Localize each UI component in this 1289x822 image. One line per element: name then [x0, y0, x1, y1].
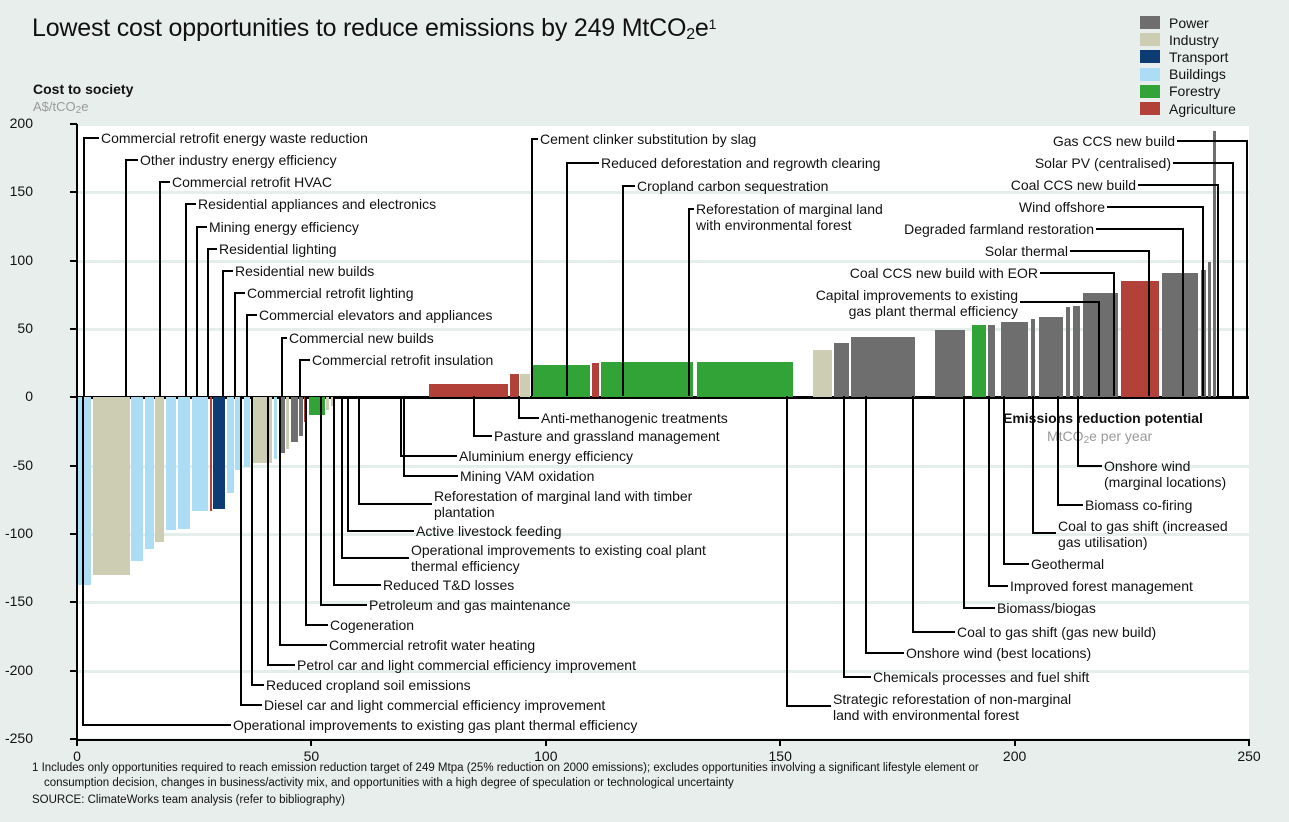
annotation-label: Mining VAM oxidation	[460, 468, 594, 484]
legend-swatch-transport	[1140, 50, 1160, 63]
leader-line	[403, 475, 458, 477]
x-axis-tick	[1014, 739, 1016, 746]
y-axis-tick	[70, 533, 77, 535]
footnote-line-2: consumption decision, changes in busines…	[44, 776, 734, 791]
y-axis-line	[76, 124, 78, 739]
y-units-pre: A$/tCO	[33, 99, 76, 114]
title-text-pre: Lowest cost opportunities to reduce emis…	[32, 14, 686, 42]
leader-line	[281, 337, 283, 396]
leader-line	[222, 270, 224, 396]
y-axis-tick	[70, 191, 77, 193]
chart-bar[interactable]	[213, 397, 225, 509]
annotation-label: Commercial elevators and appliances	[259, 307, 492, 323]
x-axis-tick	[545, 739, 547, 746]
leader-line	[347, 396, 349, 530]
leader-line	[267, 664, 295, 666]
y-axis-tick-label: 100	[10, 252, 33, 268]
annotation-label: Pasture and grassland management	[494, 428, 720, 444]
annotation-label: Wind offshore	[1019, 199, 1105, 215]
annotation-label: gas utilisation)	[1058, 534, 1148, 550]
leader-line	[518, 417, 539, 419]
y-axis-tick-label: 150	[10, 183, 33, 199]
leader-line	[159, 181, 161, 396]
chart-bar[interactable]	[291, 397, 298, 442]
leader-line	[240, 396, 242, 704]
legend-swatch-buildings	[1140, 68, 1160, 81]
annotation-label: plantation	[434, 504, 495, 520]
legend-swatch-power	[1140, 16, 1160, 29]
title-footnote-marker: 1	[709, 16, 717, 32]
x-axis-tick	[1248, 739, 1250, 746]
annotation-label: Petrol car and light commercial efficien…	[297, 657, 636, 673]
chart-bar[interactable]	[274, 397, 277, 459]
leader-line	[267, 396, 269, 664]
chart-bar[interactable]	[145, 397, 154, 549]
annotation-label: Cement clinker substitution by slag	[540, 131, 756, 147]
legend-item-buildings: Buildings	[1140, 66, 1236, 83]
annotation-label: Biomass/biogas	[997, 600, 1096, 616]
annotation-label: Commercial retrofit HVAC	[172, 174, 332, 190]
leader-line	[1246, 140, 1248, 396]
annotation-label: Commercial retrofit insulation	[312, 352, 493, 368]
leader-line	[279, 396, 281, 644]
legend-item-forestry: Forestry	[1140, 83, 1236, 100]
chart-bar[interactable]	[532, 365, 591, 398]
y-axis-tick	[70, 465, 77, 467]
legend-label: Buildings	[1169, 67, 1226, 81]
leader-line	[843, 676, 871, 678]
y-axis-tick	[70, 260, 77, 262]
chart-bar[interactable]	[286, 397, 289, 449]
chart-bar[interactable]	[309, 397, 324, 415]
x-axis-tick	[310, 739, 312, 746]
chart-bar[interactable]	[1031, 319, 1035, 397]
leader-line	[1173, 162, 1232, 164]
annotation-label: with environmental forest	[696, 217, 852, 233]
annotation-label: Commercial retrofit water heating	[329, 637, 535, 653]
leader-line	[246, 314, 248, 396]
chart-bar[interactable]	[851, 337, 914, 397]
legend-label: Forestry	[1169, 84, 1220, 98]
annotation-label: thermal efficiency	[411, 558, 520, 574]
leader-line	[688, 208, 690, 396]
leader-line	[1177, 140, 1246, 142]
leader-line	[912, 631, 955, 633]
annotation-label: Reduced deforestation and regrowth clear…	[601, 155, 880, 171]
leader-line	[1217, 184, 1219, 396]
annotation-label: Gas CCS new build	[1053, 133, 1175, 149]
annotation-label: (marginal locations)	[1104, 474, 1226, 490]
chart-bar[interactable]	[1073, 306, 1080, 398]
chart-bar[interactable]	[93, 397, 130, 575]
leader-line	[473, 435, 492, 437]
leader-line	[1202, 206, 1204, 396]
chart-bar[interactable]	[299, 397, 303, 435]
leader-line	[566, 162, 568, 396]
y-axis-caption: Cost to society	[33, 81, 133, 97]
chart-bar[interactable]	[601, 362, 692, 398]
annotation-label: Residential appliances and electronics	[198, 196, 436, 212]
leader-line	[843, 396, 845, 676]
annotation-label: Commercial retrofit lighting	[247, 285, 414, 301]
annotation-label: Aluminium energy efficiency	[459, 448, 633, 464]
leader-line	[333, 396, 335, 584]
y-axis-units: A$/tCO2e	[33, 99, 88, 116]
y-axis-tick	[70, 601, 77, 603]
leader-line	[251, 396, 253, 684]
annotation-label: land with environmental forest	[833, 707, 1019, 723]
leader-line	[1032, 532, 1056, 534]
leader-line	[1077, 396, 1079, 465]
leader-line	[358, 503, 432, 505]
leader-line	[988, 585, 1008, 587]
chart-bar[interactable]	[1208, 262, 1211, 397]
y-axis-tick-label: -250	[5, 730, 33, 746]
annotation-label: Other industry energy efficiency	[140, 152, 337, 168]
legend-label: Power	[1169, 16, 1209, 30]
legend-label: Agriculture	[1169, 102, 1236, 116]
annotation-label: Geothermal	[1031, 556, 1104, 572]
leader-line	[234, 292, 236, 396]
x-axis-line	[77, 739, 1249, 741]
leader-line	[1098, 301, 1100, 396]
leader-line	[518, 396, 520, 417]
annotation-label: Diesel car and light commercial efficien…	[264, 697, 605, 713]
chart-bar[interactable]	[1213, 131, 1216, 398]
annotation-label: Coal to gas shift (gas new build)	[957, 624, 1156, 640]
y-axis-tick	[70, 670, 77, 672]
title-subscript: 2	[686, 26, 695, 43]
leader-line	[1096, 228, 1182, 230]
leader-line	[347, 530, 414, 532]
annotation-label: Solar thermal	[985, 243, 1068, 259]
annotation-label: Biomass co-firing	[1085, 497, 1192, 513]
y-axis-tick	[70, 328, 77, 330]
annotation-label: Residential new builds	[235, 263, 374, 279]
chart-bar[interactable]	[77, 397, 91, 584]
annotation-label: Chemicals processes and fuel shift	[873, 669, 1089, 685]
leader-line	[82, 724, 231, 726]
legend-swatch-industry	[1140, 33, 1160, 46]
annotation-label: Petroleum and gas maintenance	[369, 597, 571, 613]
legend-label: Industry	[1169, 33, 1219, 47]
y-axis-tick-label: -100	[5, 525, 33, 541]
chart-bar[interactable]	[520, 374, 530, 397]
leader-line	[358, 396, 360, 503]
leader-line	[320, 604, 367, 606]
leader-line	[305, 396, 307, 624]
chart-bar[interactable]	[227, 397, 234, 493]
leader-line	[125, 159, 127, 396]
annotation-label: Cogeneration	[330, 617, 414, 633]
leader-line	[403, 396, 405, 475]
leader-line	[1148, 250, 1150, 396]
leader-line	[341, 557, 409, 559]
annotation-label: Onshore wind	[1104, 458, 1190, 474]
legend: PowerIndustryTransportBuildingsForestryA…	[1140, 14, 1236, 117]
x-axis-units: MtCO2e per year	[1047, 428, 1152, 446]
leader-line	[988, 396, 990, 585]
annotation-label: Cropland carbon sequestration	[637, 178, 828, 194]
page-title: Lowest cost opportunities to reduce emis…	[32, 14, 716, 44]
leader-line	[865, 652, 904, 654]
x-axis-tick	[779, 739, 781, 746]
chart-bar[interactable]	[326, 397, 328, 409]
leader-line	[912, 396, 914, 631]
leader-line	[566, 162, 599, 164]
leader-line	[1003, 396, 1005, 563]
leader-line	[1032, 396, 1034, 532]
leader-line	[83, 137, 99, 139]
leader-line	[1070, 250, 1148, 252]
annotation-label: Active livestock feeding	[416, 523, 562, 539]
chart-bar[interactable]	[972, 325, 985, 397]
chart-bar[interactable]	[192, 397, 208, 510]
y-axis-tick	[70, 123, 77, 125]
leader-line	[473, 396, 475, 435]
chart-bar[interactable]	[244, 397, 250, 467]
leader-line	[1077, 465, 1102, 467]
chart-bar[interactable]	[1001, 322, 1028, 397]
leader-line	[251, 684, 264, 686]
legend-swatch-forestry	[1140, 85, 1160, 98]
annotation-label: Operational improvements to existing gas…	[233, 717, 637, 733]
legend-swatch-agriculture	[1140, 102, 1160, 115]
y-units-post: e	[81, 99, 88, 114]
x-units-post: e per year	[1089, 428, 1152, 444]
leader-line	[333, 584, 381, 586]
leader-line	[341, 396, 343, 557]
chart-bar[interactable]	[1039, 317, 1063, 398]
leader-line	[185, 203, 187, 396]
annotation-label: Degraded farmland restoration	[904, 221, 1094, 237]
chart-bar[interactable]	[1162, 273, 1198, 397]
annotation-label: Residential lighting	[219, 241, 337, 257]
leader-line	[400, 455, 457, 457]
annotation-label: Operational improvements to existing coa…	[411, 542, 706, 558]
footnote-source: SOURCE: ClimateWorks team analysis (refe…	[32, 793, 345, 808]
annotation-label: Coal CCS new build with EOR	[850, 265, 1038, 281]
leader-line	[963, 607, 995, 609]
annotation-label: Strategic reforestation of non-marginal	[833, 691, 1071, 707]
leader-line	[1113, 272, 1115, 396]
chart-bar[interactable]	[166, 397, 177, 530]
chart-bar[interactable]	[935, 330, 965, 397]
leader-line	[299, 359, 301, 396]
leader-line	[1107, 206, 1202, 208]
leader-line	[786, 396, 788, 705]
leader-line	[196, 226, 198, 396]
leader-line	[1057, 396, 1059, 504]
chart-bar[interactable]	[1121, 281, 1159, 397]
annotation-label: Onshore wind (best locations)	[906, 645, 1091, 661]
leader-line	[786, 705, 831, 707]
annotation-label: Reduced T&D losses	[383, 577, 514, 593]
y-axis-tick-label: -50	[13, 457, 33, 473]
annotation-label: Commercial retrofit energy waste reducti…	[101, 130, 368, 146]
chart-bar[interactable]	[834, 343, 849, 398]
x-axis-tick-label: 200	[1003, 748, 1026, 764]
leader-line	[1138, 184, 1217, 186]
chart-bar[interactable]	[510, 374, 519, 397]
leader-line	[531, 138, 533, 396]
annotation-label: Reforestation of marginal land with timb…	[434, 488, 692, 504]
leader-line	[1040, 272, 1113, 274]
leader-line	[1232, 162, 1234, 396]
y-axis-tick-label: 200	[10, 115, 33, 131]
leader-line	[400, 396, 402, 455]
leader-line	[240, 704, 262, 706]
annotation-label: Mining energy efficiency	[209, 219, 359, 235]
y-axis-tick-label: -200	[5, 662, 33, 678]
leader-line	[82, 396, 84, 724]
annotation-label: Commercial new builds	[289, 330, 434, 346]
chart-bar[interactable]	[429, 384, 509, 398]
leader-line	[207, 248, 209, 396]
gridline	[77, 123, 1249, 126]
leader-line	[865, 396, 867, 652]
leader-line	[1020, 301, 1098, 303]
annotation-label: Capital improvements to existing	[816, 287, 1018, 303]
chart-bar[interactable]	[210, 397, 212, 510]
leader-line	[1057, 504, 1083, 506]
leader-line	[279, 644, 327, 646]
annotation-label: Coal to gas shift (increased	[1058, 518, 1228, 534]
annotation-label: Reduced cropland soil emissions	[266, 677, 471, 693]
chart-bar[interactable]	[131, 397, 143, 561]
leader-line	[83, 137, 85, 396]
chart-bar[interactable]	[988, 325, 996, 397]
leader-line	[1182, 228, 1184, 396]
title-text-post: e	[695, 14, 709, 42]
legend-label: Transport	[1169, 50, 1228, 64]
annotation-label: Improved forest management	[1010, 578, 1193, 594]
leader-line	[1003, 563, 1029, 565]
annotation-label: Reforestation of marginal land	[696, 201, 883, 217]
leader-line	[963, 396, 965, 607]
x-axis-tick	[76, 739, 78, 746]
chart-bar[interactable]	[592, 363, 600, 397]
leader-line	[305, 624, 328, 626]
legend-item-industry: Industry	[1140, 31, 1236, 48]
annotation-label: Solar PV (centralised)	[1035, 155, 1171, 171]
leader-line	[320, 396, 322, 604]
y-axis-tick	[70, 396, 77, 398]
chart-bar[interactable]	[178, 397, 190, 528]
y-axis-tick-label: 0	[25, 388, 33, 404]
footnote-line-1: 1 Includes only opportunities required t…	[32, 761, 979, 776]
y-axis-tick-label: -150	[5, 593, 33, 609]
leader-line	[622, 185, 624, 396]
annotation-label: Coal CCS new build	[1011, 177, 1136, 193]
y-axis-tick-label: 50	[17, 320, 33, 336]
x-axis-tick-label: 250	[1237, 748, 1260, 764]
annotation-label: Anti-methanogenic treatments	[541, 410, 728, 426]
annotation-label: gas plant thermal efficiency	[849, 303, 1018, 319]
chart-bar[interactable]	[813, 350, 832, 398]
legend-item-transport: Transport	[1140, 48, 1236, 65]
chart-bar[interactable]	[697, 362, 793, 398]
chart-bar[interactable]	[1066, 307, 1070, 397]
chart-bar[interactable]	[155, 397, 164, 542]
legend-item-power: Power	[1140, 14, 1236, 31]
legend-item-agriculture: Agriculture	[1140, 100, 1236, 117]
